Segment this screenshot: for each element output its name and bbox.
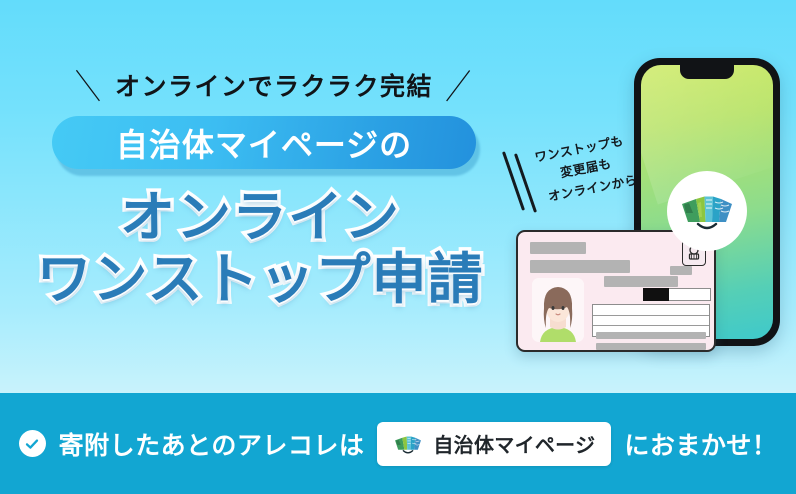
- pill-label: 自治体マイページの: [116, 120, 412, 166]
- headline-line-2: ワンストップ申請: [14, 250, 506, 308]
- app-logo-circle: [667, 171, 747, 251]
- subtitle-pill: 自治体マイページの: [52, 116, 480, 174]
- slash-left-decoration: ＼: [71, 60, 108, 108]
- eyebrow-tagline: ＼ オンラインでラクラク完結 ／: [64, 63, 484, 107]
- jichitai-mypage-fan-icon: [678, 189, 736, 233]
- portrait-photo-icon: [532, 278, 584, 342]
- card-redacted-block: [643, 288, 669, 301]
- promo-banner: ＼ オンラインでラクラク完結 ／ 自治体マイページの オンライン ワンストップ申…: [0, 0, 796, 494]
- slash-right-decoration: ／: [440, 60, 477, 108]
- card-field-bar: [530, 260, 630, 273]
- eyebrow-text: オンラインでラクラク完結: [115, 67, 433, 103]
- card-field-bar: [530, 242, 586, 254]
- badge-label: 自治体マイページ: [433, 429, 595, 458]
- headline-line-1: オンライン: [14, 188, 506, 246]
- card-field-bar: [596, 332, 706, 339]
- check-glyph-icon: [24, 436, 40, 452]
- bottom-bar-text-before: 寄附したあとのアレコレは: [59, 426, 365, 462]
- avatar: [532, 278, 584, 342]
- card-field-bar: [604, 276, 678, 287]
- side-note: ワンストップも 変更届も オンラインから: [513, 127, 652, 211]
- card-address-line: [593, 315, 709, 316]
- pill-body: 自治体マイページの: [52, 116, 476, 169]
- jichitai-mypage-badge[interactable]: 自治体マイページ: [377, 422, 611, 466]
- card-field-bar: [670, 266, 692, 275]
- jichitai-mypage-fan-icon: [393, 432, 423, 456]
- card-address-line: [593, 325, 709, 326]
- my-number-card: [516, 230, 716, 352]
- page-title: オンライン ワンストップ申請: [14, 188, 506, 309]
- bottom-bar: 寄附したあとのアレコレは 自治体マイペ: [0, 393, 796, 494]
- check-circle-icon: [19, 430, 46, 457]
- bottom-bar-text-after: におまかせ！: [624, 426, 777, 462]
- phone-notch: [680, 65, 734, 79]
- card-field-bar: [596, 343, 706, 350]
